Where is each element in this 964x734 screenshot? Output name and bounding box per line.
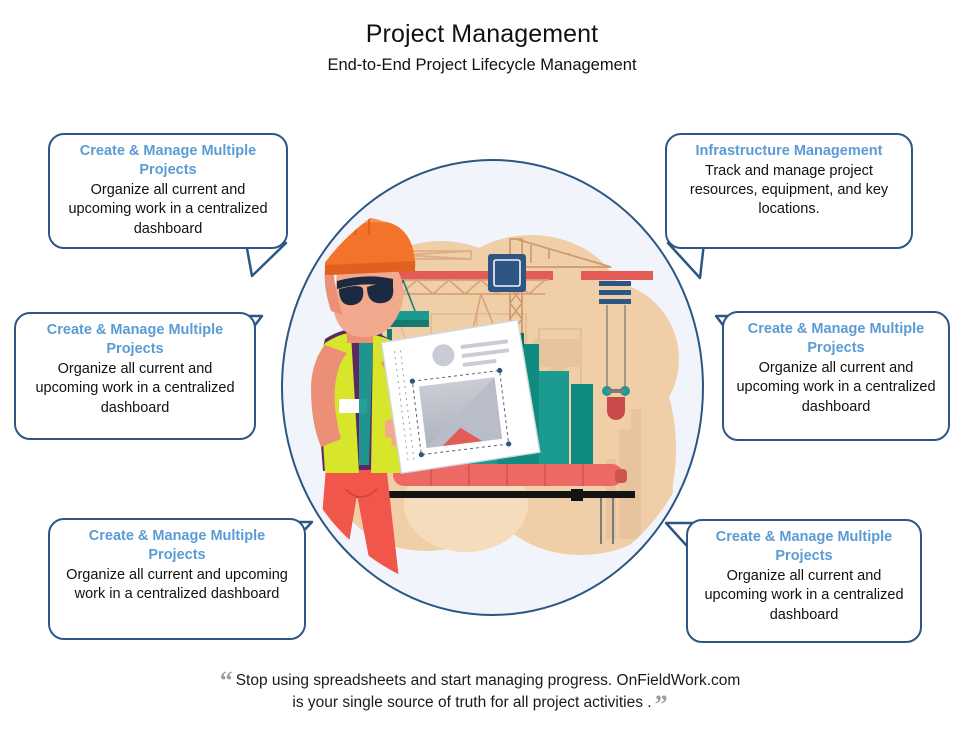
callout-heading: Create & Manage Multiple Projects [26, 321, 244, 359]
callout-bottom-right[interactable]: Create & Manage Multiple Projects Organi… [686, 519, 922, 643]
slide-canvas: Project Management End-to-End Project Li… [0, 0, 964, 734]
callout-body: Organize all current and upcoming work i… [60, 566, 294, 604]
callout-heading: Create & Manage Multiple Projects [698, 528, 910, 566]
callout-heading: Create & Manage Multiple Projects [734, 320, 938, 358]
callout-heading: Create & Manage Multiple Projects [60, 142, 276, 180]
callout-middle-left[interactable]: Create & Manage Multiple Projects Organi… [14, 312, 256, 440]
callout-body: Organize all current and upcoming work i… [60, 181, 276, 238]
callout-body: Organize all current and upcoming work i… [26, 360, 244, 417]
callout-body: Organize all current and upcoming work i… [698, 567, 910, 624]
callout-heading: Create & Manage Multiple Projects [60, 527, 294, 565]
callout-top-right[interactable]: Infrastructure Management Track and mana… [665, 133, 913, 249]
callout-body: Track and manage project resources, equi… [677, 162, 901, 219]
callout-top-left[interactable]: Create & Manage Multiple Projects Organi… [48, 133, 288, 249]
callout-middle-right[interactable]: Create & Manage Multiple Projects Organi… [722, 311, 950, 441]
callout-heading: Infrastructure Management [677, 142, 901, 161]
callout-body: Organize all current and upcoming work i… [734, 359, 938, 416]
callout-bottom-left[interactable]: Create & Manage Multiple Projects Organi… [48, 518, 306, 640]
